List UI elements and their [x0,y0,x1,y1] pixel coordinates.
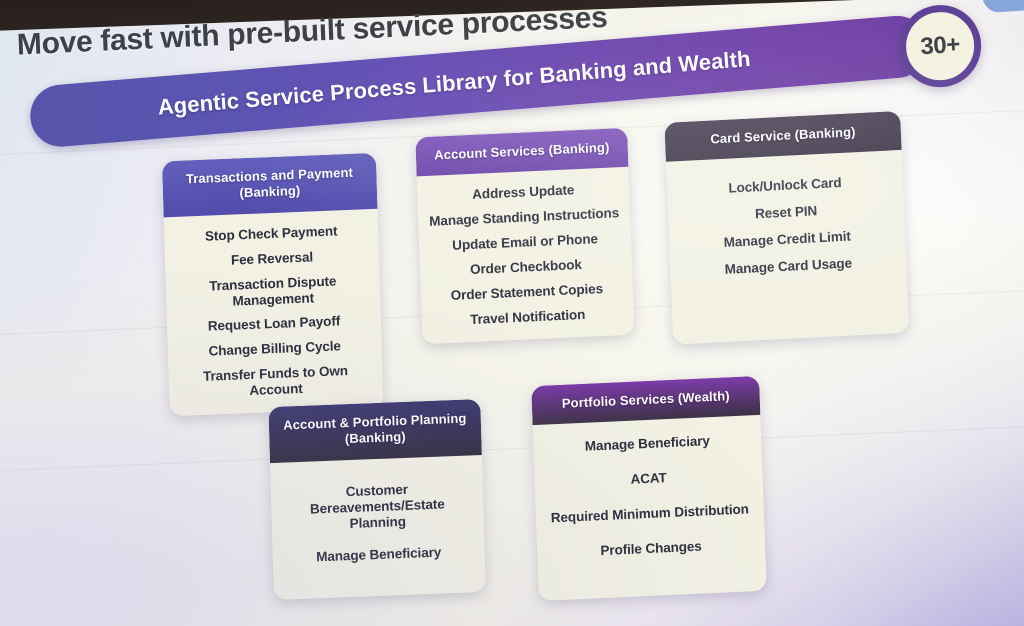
card-item-list: Customer Bereavements/Estate Planning Ma… [270,455,486,597]
list-item: Required Minimum Distribution [545,501,755,526]
list-item: Address Update [426,181,620,206]
list-item: Manage Card Usage [679,253,897,280]
list-item: Manage Beneficiary [542,432,752,457]
card-item-list: Stop Check Payment Fee Reversal Transact… [164,209,384,417]
card-header: Account & Portfolio Planning (Banking) [268,399,481,463]
list-item: Transfer Funds to Own Account [177,362,374,402]
slide-content: Move fast with pre-built service process… [0,0,1024,626]
list-item: Manage Beneficiary [282,543,476,566]
list-item: Travel Notification [431,305,625,330]
salesforce-cloud-icon: sales [972,0,1024,19]
badge-count: 30+ [920,31,961,61]
list-item: Request Loan Payoff [176,313,372,337]
process-card[interactable]: Account & Portfolio Planning (Banking) C… [268,399,485,600]
slide-photo: Move fast with pre-built service process… [0,0,1024,626]
list-item: Reset PIN [677,200,895,227]
list-item: Customer Bereavements/Estate Planning [280,479,475,534]
list-item: Fee Reversal [174,247,370,271]
list-item: Order Checkbook [429,255,623,280]
list-item: ACAT [543,466,753,491]
list-item: Update Email or Phone [428,230,622,255]
list-item: Manage Standing Instructions [427,205,621,230]
list-item: Transaction Dispute Management [175,272,372,312]
list-item: Stop Check Payment [173,222,369,246]
list-item: Manage Credit Limit [678,226,896,253]
list-item: Change Billing Cycle [177,337,373,361]
process-card[interactable]: Transactions and Payment (Banking) Stop … [162,153,384,417]
process-card[interactable]: Portfolio Services (Wealth) Manage Benef… [531,376,767,601]
list-item: Profile Changes [546,536,756,561]
card-item-list: Lock/Unlock Card Reset PIN Manage Credit… [666,150,908,305]
list-item: Order Statement Copies [430,280,624,305]
process-card[interactable]: Card Service (Banking) Lock/Unlock Card … [664,111,909,345]
banner-title: Agentic Service Process Library for Bank… [157,46,752,121]
card-header: Transactions and Payment (Banking) [162,153,378,217]
card-item-list: Manage Beneficiary ACAT Required Minimum… [533,415,767,595]
process-card[interactable]: Account Services (Banking) Address Updat… [415,128,634,344]
list-item: Lock/Unlock Card [676,173,894,200]
card-item-list: Address Update Manage Standing Instructi… [417,167,635,344]
